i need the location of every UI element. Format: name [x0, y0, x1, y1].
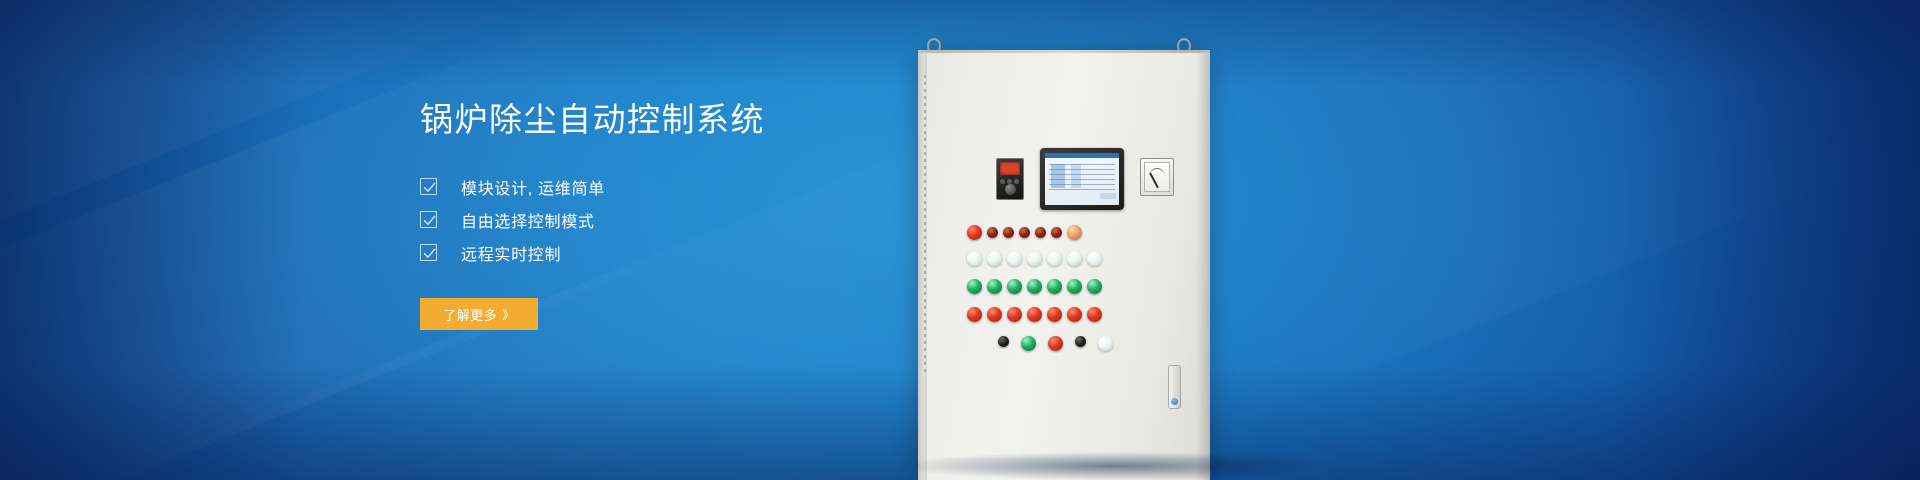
- indicator-lamp-green[interactable]: [1021, 336, 1036, 351]
- indicator-lamp-red[interactable]: [1027, 307, 1042, 322]
- indicator-lamp-white[interactable]: [1007, 251, 1022, 266]
- lamp-row: [998, 336, 1118, 351]
- chevron-right-icon: 》: [502, 306, 515, 323]
- analog-panel-meter: [1140, 158, 1174, 196]
- lamp-row: [967, 279, 1107, 294]
- indicator-lamp-green[interactable]: [1007, 279, 1022, 294]
- feature-list: 模块设计, 运维简单 自由选择控制模式 远程实时控制: [420, 170, 940, 269]
- lamp-row: [967, 307, 1107, 322]
- check-icon: [420, 178, 437, 195]
- check-icon: [420, 244, 437, 261]
- control-cabinet-image: [900, 0, 1320, 480]
- indicator-lamp-white[interactable]: [1067, 251, 1082, 266]
- check-icon: [420, 211, 437, 228]
- indicator-lamp-green[interactable]: [1067, 279, 1082, 294]
- cabinet-door-panel: [918, 53, 1210, 480]
- indicator-lamp-red[interactable]: [1087, 307, 1102, 322]
- indicator-lamp-white[interactable]: [987, 251, 1002, 266]
- list-item: 自由选择控制模式: [420, 203, 940, 236]
- list-item-label: 模块设计, 运维简单: [461, 175, 605, 199]
- indicator-lamp-white[interactable]: [1098, 336, 1113, 351]
- indicator-lamp-dark-red[interactable]: [1003, 227, 1014, 238]
- indicator-lamp-dark-red[interactable]: [987, 227, 998, 238]
- indicator-lamp-white[interactable]: [1027, 251, 1042, 266]
- controller-display: [1000, 162, 1020, 175]
- cabinet-shadow: [900, 452, 1330, 480]
- list-item: 模块设计, 运维简单: [420, 170, 940, 203]
- lamp-row: [967, 225, 1087, 240]
- meter-face: [1144, 162, 1170, 192]
- list-item-label: 自由选择控制模式: [461, 208, 595, 232]
- indicator-lamp-red[interactable]: [967, 225, 982, 240]
- indicator-lamp-white[interactable]: [1047, 251, 1062, 266]
- indicator-lamp-white[interactable]: [1087, 251, 1102, 266]
- cabinet-hinge-strip: [918, 53, 927, 480]
- list-item-label: 远程实时控制: [461, 241, 561, 265]
- indicator-lamp-green[interactable]: [1027, 279, 1042, 294]
- cabinet-door-handle[interactable]: [1168, 365, 1181, 409]
- hmi-touch-screen: [1040, 148, 1124, 210]
- learn-more-button[interactable]: 了解更多 》: [420, 298, 538, 330]
- hero-banner: 锅炉除尘自动控制系统 模块设计, 运维简单 自由选择控制模式: [0, 0, 1920, 480]
- lamp-row: [967, 251, 1107, 266]
- indicator-lamp-dark-red[interactable]: [1051, 227, 1062, 238]
- selector-switch-black[interactable]: [1075, 336, 1086, 347]
- indicator-lamp-red[interactable]: [1048, 336, 1063, 351]
- page-title: 锅炉除尘自动控制系统: [420, 100, 940, 140]
- digital-temperature-controller: [996, 158, 1024, 200]
- indicator-lamp-green[interactable]: [1087, 279, 1102, 294]
- indicator-lamp-green[interactable]: [1047, 279, 1062, 294]
- indicator-lamp-red[interactable]: [987, 307, 1002, 322]
- indicator-lamp-white[interactable]: [967, 251, 982, 266]
- indicator-lamp-red[interactable]: [1067, 307, 1082, 322]
- controller-knob: [1005, 184, 1016, 195]
- indicator-lamp-amber[interactable]: [1067, 225, 1082, 240]
- list-item: 远程实时控制: [420, 236, 940, 269]
- selector-switch-black[interactable]: [998, 336, 1009, 347]
- indicator-lamp-dark-red[interactable]: [1035, 227, 1046, 238]
- indicator-lamp-green[interactable]: [987, 279, 1002, 294]
- indicator-lamp-green[interactable]: [967, 279, 982, 294]
- lock-icon: [1171, 398, 1178, 405]
- hmi-screen-content: [1045, 153, 1119, 205]
- hero-copy: 锅炉除尘自动控制系统 模块设计, 运维简单 自由选择控制模式: [420, 100, 940, 330]
- indicator-lamp-red[interactable]: [1007, 307, 1022, 322]
- learn-more-label: 了解更多: [443, 305, 497, 324]
- indicator-lamp-red[interactable]: [1047, 307, 1062, 322]
- indicator-lamp-dark-red[interactable]: [1019, 227, 1030, 238]
- indicator-lamp-red[interactable]: [967, 307, 982, 322]
